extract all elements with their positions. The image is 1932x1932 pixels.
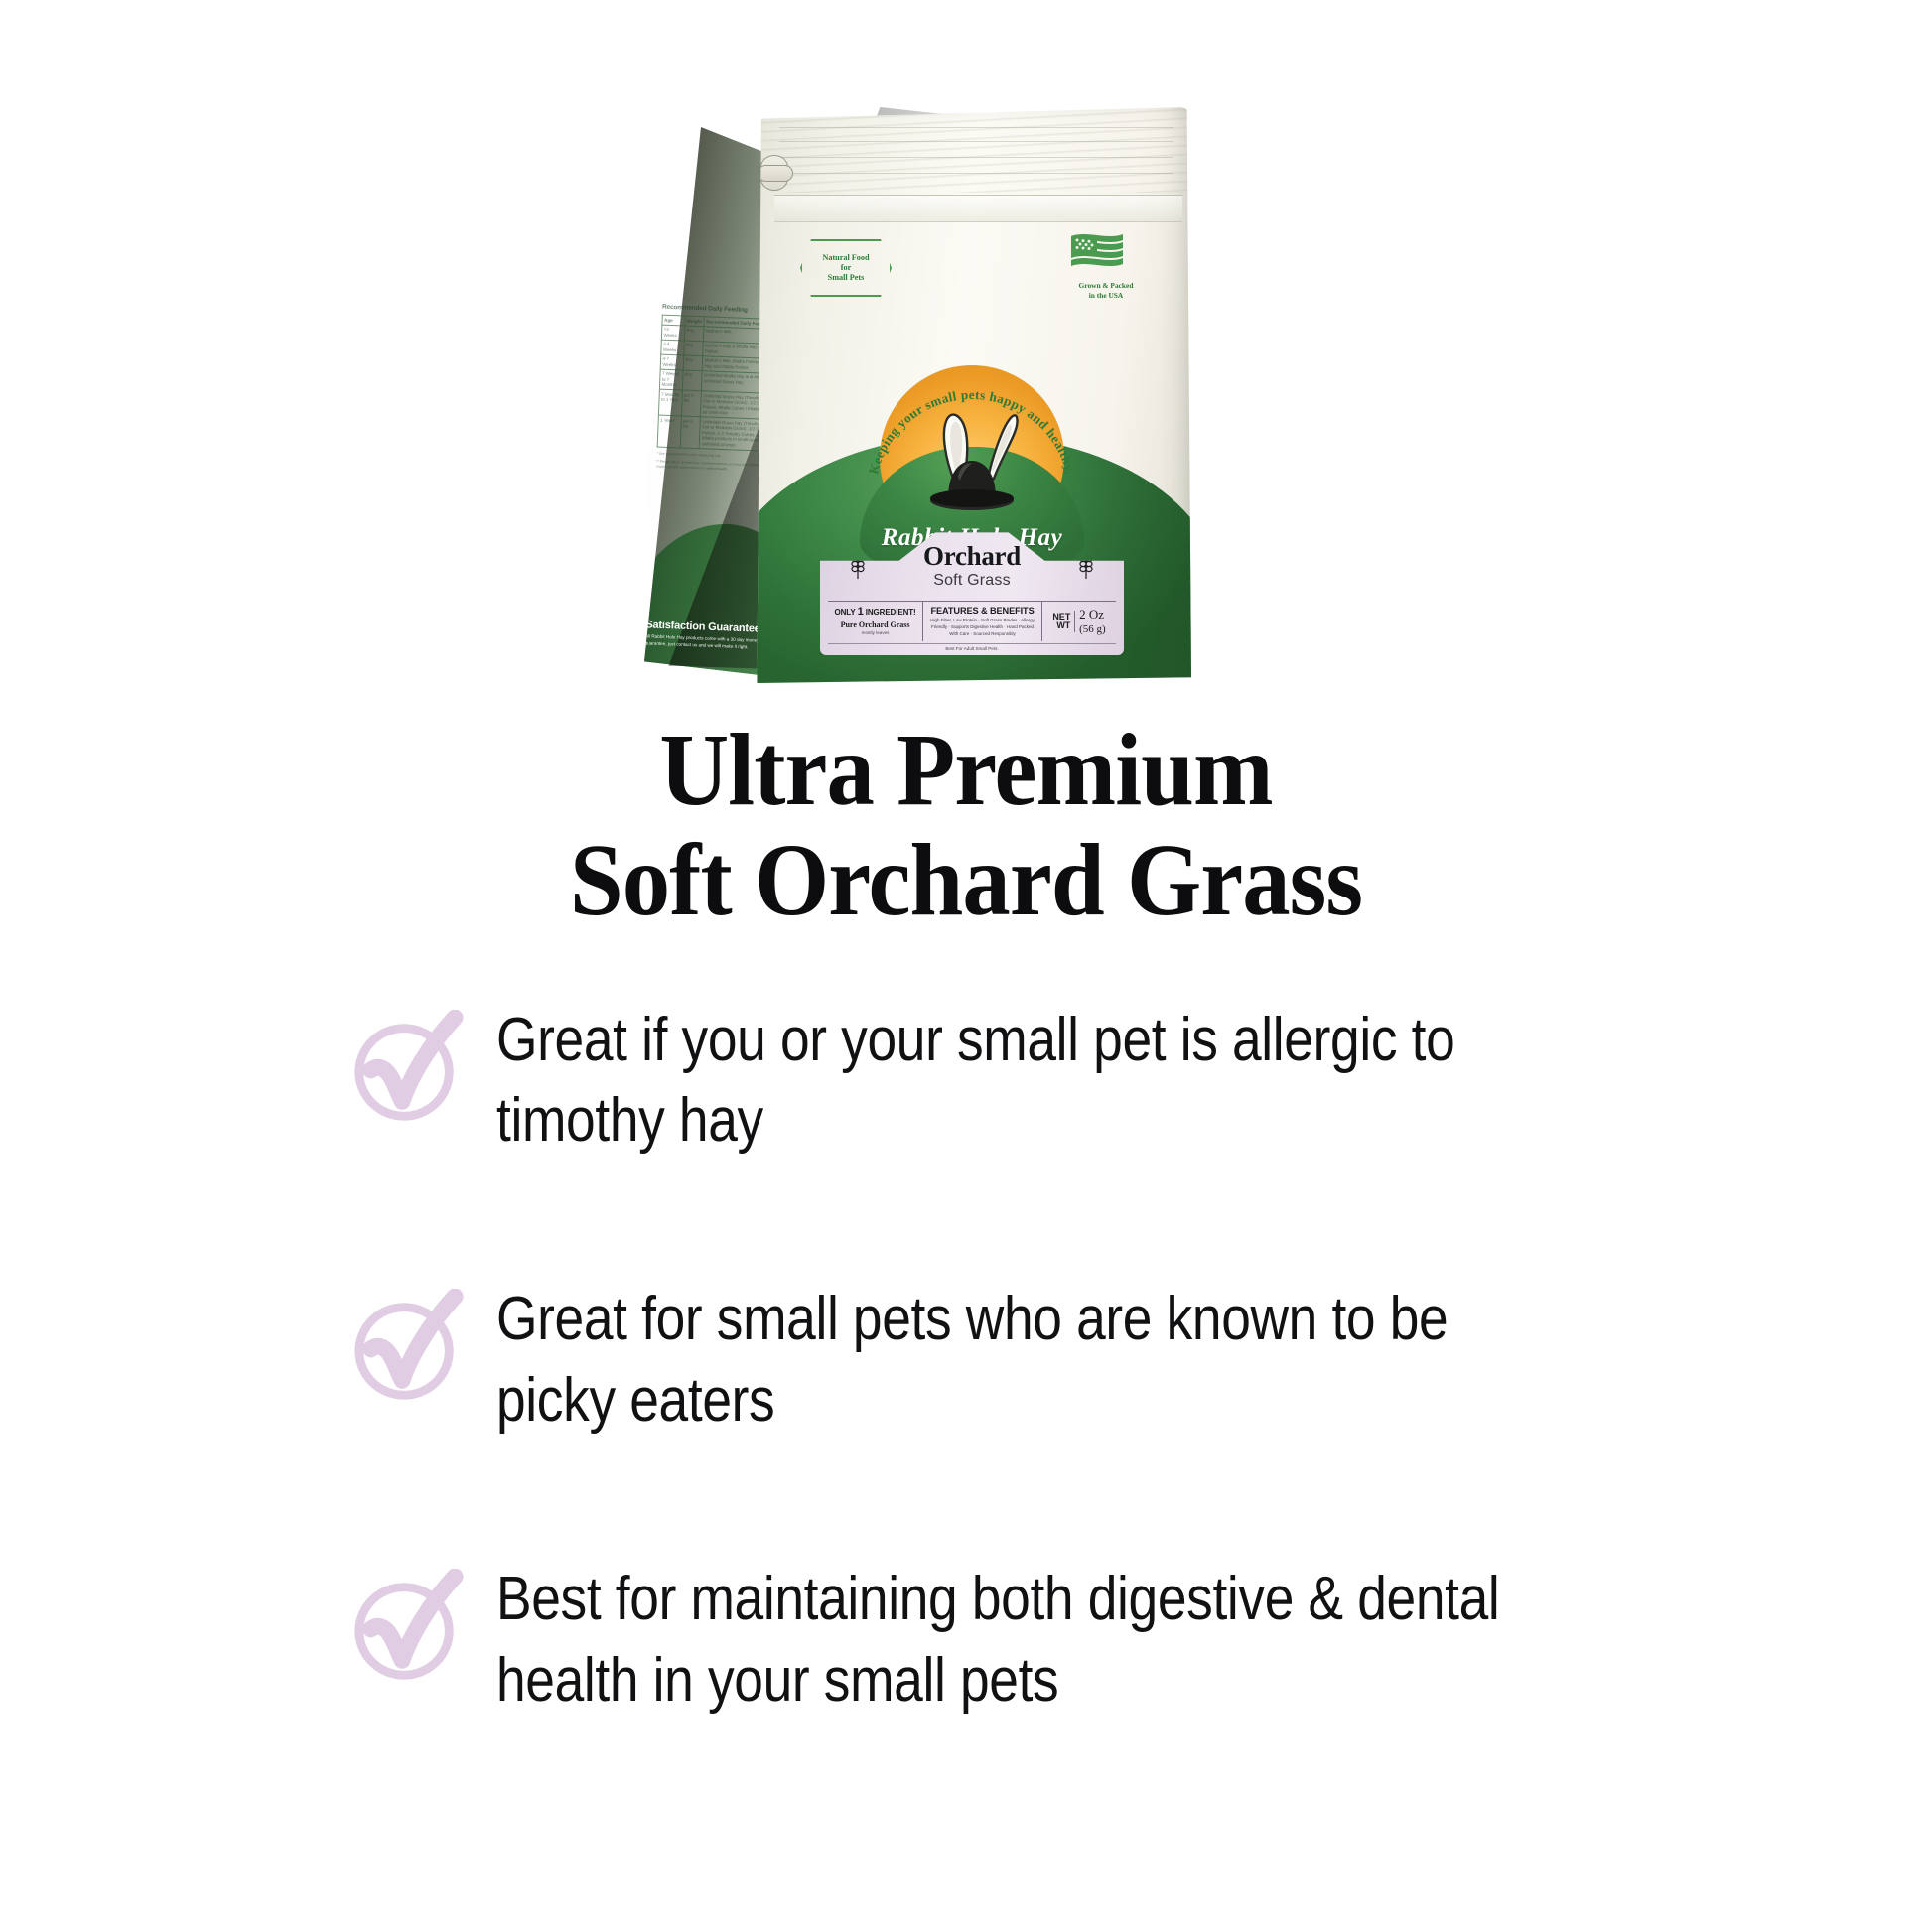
product-image: Recommended Daily Feeding Age Weight Rec… bbox=[0, 0, 1932, 695]
net-weight-column: NET WT 2 Oz (56 g) bbox=[1041, 602, 1116, 641]
features-column: FEATURES & BENEFITS High Fiber, Low Prot… bbox=[922, 602, 1041, 641]
benefit-list: Great if you or your small pet is allerg… bbox=[0, 1000, 1932, 1722]
ingredient-name: Pure Orchard Grass bbox=[832, 621, 918, 629]
features-list: High Fiber, Low Protein · Soft Grass Bla… bbox=[927, 618, 1037, 638]
product-subtitle: Soft Grass bbox=[828, 572, 1116, 590]
ingredient-column: ONLY 1 INGREDIENT! Pure Orchard Grass mo… bbox=[828, 602, 922, 641]
ingredient-note: mostly leaves bbox=[832, 630, 918, 635]
net-weight-grams: (56 g) bbox=[1079, 623, 1106, 635]
headline-line-1: Ultra Premium bbox=[68, 715, 1864, 825]
usa-badge-caption: Grown & Packed in the USA bbox=[1056, 281, 1156, 300]
natural-badge-line-2: for bbox=[822, 263, 869, 273]
hang-hole-icon bbox=[760, 155, 788, 191]
natural-food-badge: Natural Food for Small Pets bbox=[800, 239, 892, 297]
net-weight-label: NET WT bbox=[1052, 613, 1070, 631]
check-circle-icon bbox=[349, 1010, 467, 1127]
ingredient-heading-number: 1 bbox=[858, 606, 864, 618]
natural-badge-line-1: Natural Food bbox=[822, 253, 869, 263]
logo-tagline-text: Keeping your small pets happy and health… bbox=[866, 387, 1078, 476]
list-item: Best for maintaining both digestive & de… bbox=[0, 1559, 1932, 1722]
ingredient-heading: ONLY 1 INGREDIENT! bbox=[832, 606, 918, 618]
net-weight-oz: 2 Oz bbox=[1079, 608, 1106, 622]
usa-caption-line-1: Grown & Packed bbox=[1056, 281, 1156, 291]
headline-line-2: Soft Orchard Grass bbox=[68, 825, 1864, 935]
list-item: Great if you or your small pet is allerg… bbox=[0, 1000, 1932, 1163]
net-label-line-2: WT bbox=[1052, 621, 1070, 630]
natural-food-badge-text: Natural Food for Small Pets bbox=[822, 253, 869, 284]
benefit-text: Best for maintaining both digestive & de… bbox=[496, 1559, 1538, 1722]
benefit-text: Great for small pets who are known to be… bbox=[496, 1279, 1538, 1442]
product-bag: Recommended Daily Feeding Age Weight Rec… bbox=[635, 107, 1191, 683]
bag-front-face: Natural Food for Small Pets bbox=[753, 107, 1191, 683]
net-weight-divider bbox=[1074, 611, 1075, 632]
ingredient-heading-pre: ONLY bbox=[834, 608, 855, 617]
benefit-text: Great if you or your small pet is allerg… bbox=[496, 1000, 1538, 1163]
bag-zipper-strip bbox=[774, 195, 1182, 222]
usa-caption-line-2: in the USA bbox=[1056, 291, 1156, 301]
features-heading: FEATURES & BENEFITS bbox=[927, 606, 1037, 616]
natural-badge-line-3: Small Pets bbox=[822, 273, 869, 283]
list-item: Great for small pets who are known to be… bbox=[0, 1279, 1932, 1442]
check-circle-icon bbox=[349, 1569, 467, 1686]
marketing-copy: Ultra Premium Soft Orchard Grass Great i… bbox=[0, 695, 1932, 1722]
product-label-footnote: Best For Adult Small Pets. bbox=[828, 643, 1116, 656]
bag-top-seal bbox=[753, 107, 1191, 193]
check-circle-icon bbox=[349, 1289, 467, 1406]
ingredient-heading-post: INGREDIENT! bbox=[866, 608, 916, 617]
product-label-columns: ONLY 1 INGREDIENT! Pure Orchard Grass mo… bbox=[828, 601, 1116, 641]
usa-badge: Grown & Packed in the USA bbox=[1056, 230, 1156, 300]
usa-flag-icon bbox=[1069, 230, 1143, 272]
net-weight-value: 2 Oz (56 g) bbox=[1079, 608, 1106, 636]
page-title: Ultra Premium Soft Orchard Grass bbox=[68, 695, 1864, 936]
